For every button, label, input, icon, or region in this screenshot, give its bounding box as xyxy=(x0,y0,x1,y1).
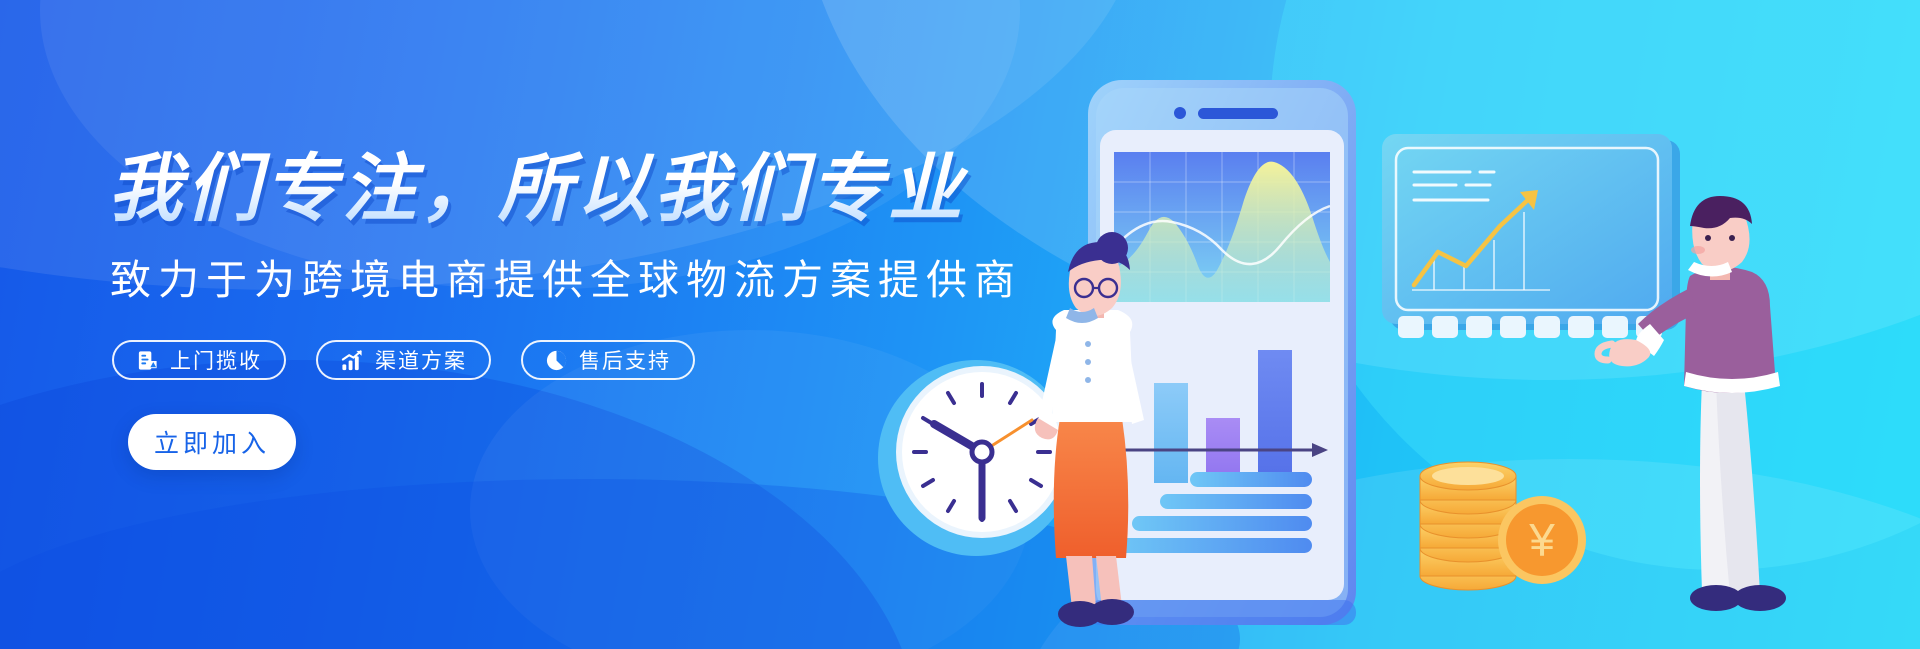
feature-pill-list: 上门揽收 渠道方案 xyxy=(112,340,1028,380)
pie-chart-icon xyxy=(545,349,568,372)
feature-pill-channel[interactable]: 渠道方案 xyxy=(316,340,491,380)
feature-pill-support[interactable]: 售后支持 xyxy=(521,340,695,380)
phone-area-chart xyxy=(1114,152,1330,302)
page-subtitle: 致力于为跨境电商提供全球物流方案提供商 xyxy=(110,246,1028,306)
page-title: 我们专注，所以我们专业 xyxy=(108,150,1028,228)
presentation-board xyxy=(1382,134,1680,338)
coin-stack: ¥ xyxy=(1420,462,1586,590)
feature-pill-label: 渠道方案 xyxy=(375,345,467,375)
feature-pill-pickup[interactable]: 上门揽收 xyxy=(112,340,286,380)
promo-banner: ¥ xyxy=(0,0,1920,649)
yuan-symbol: ¥ xyxy=(1528,514,1555,566)
bar-chart-trend-icon xyxy=(340,349,364,372)
banner-content: 我们专注，所以我们专业 致力于为跨境电商提供全球物流方案提供商 上门揽收 xyxy=(108,150,1028,470)
join-now-button[interactable]: 立即加入 xyxy=(128,414,296,470)
feature-pill-label: 上门揽收 xyxy=(170,345,262,375)
feature-pill-label: 售后支持 xyxy=(579,345,671,375)
document-list-icon xyxy=(136,349,159,372)
